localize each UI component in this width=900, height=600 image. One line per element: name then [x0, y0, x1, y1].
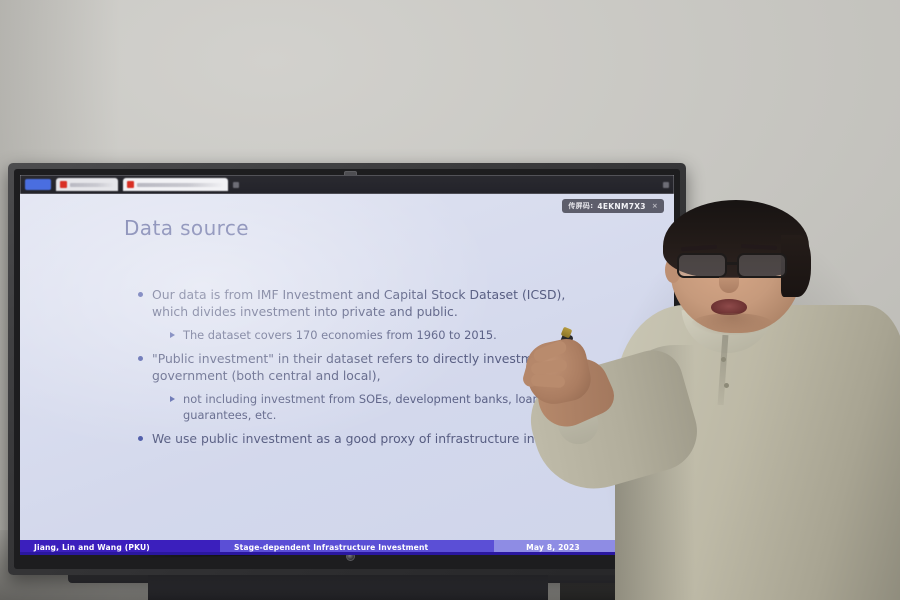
browser-tab-bar[interactable] — [20, 175, 674, 194]
triangle-bullet-icon — [170, 396, 175, 402]
triangle-bullet-icon — [170, 332, 175, 338]
presenter-finger — [531, 374, 566, 388]
presenter — [505, 195, 900, 600]
subbullet-text: The dataset covers 170 economies from 19… — [183, 327, 497, 343]
presenter-chin-shadow — [691, 313, 773, 335]
room-scene: Data source Our data is from IMF Investm… — [0, 0, 900, 600]
browser-tab-2-title — [137, 183, 224, 187]
browser-action-button[interactable] — [25, 179, 51, 190]
bullet-dot-icon — [138, 292, 143, 297]
pdf-favicon-icon — [127, 181, 134, 188]
shirt-button — [721, 357, 726, 362]
new-tab-icon[interactable] — [233, 182, 239, 188]
browser-tab-1-title — [70, 183, 114, 187]
slide-title: Data source — [124, 216, 249, 240]
window-controls-icon[interactable] — [663, 182, 669, 188]
pdf-favicon-icon — [60, 181, 67, 188]
browser-tab-1[interactable] — [56, 178, 118, 191]
glasses-lens-left — [677, 253, 727, 278]
shirt-button — [724, 383, 729, 388]
browser-tab-2[interactable] — [123, 178, 228, 191]
glasses-lens-right — [737, 253, 787, 278]
glasses-icon — [675, 253, 799, 279]
bullet-dot-icon — [138, 356, 143, 361]
display-stand — [148, 573, 548, 600]
bullet-dot-icon — [138, 436, 143, 441]
